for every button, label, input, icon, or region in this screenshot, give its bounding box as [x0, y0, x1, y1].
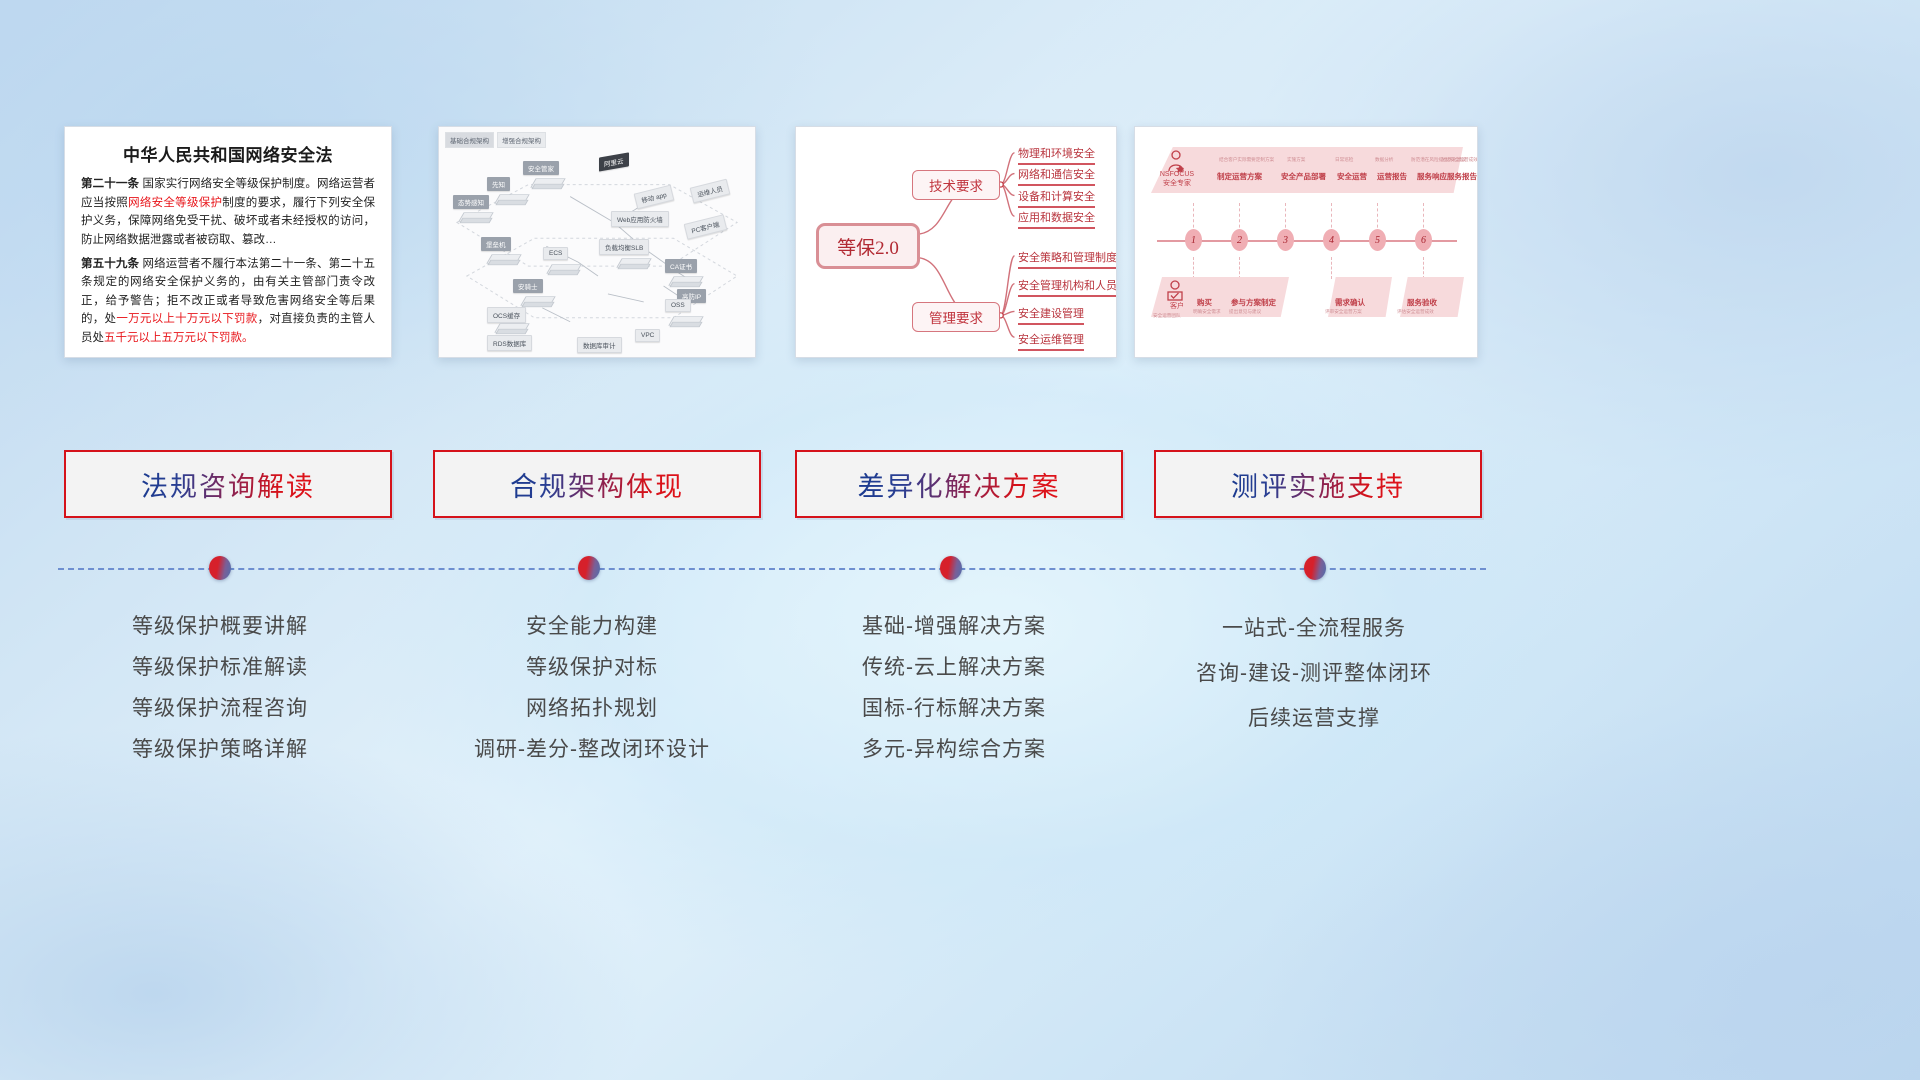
- customer-step-4-title: 服务验收: [1407, 297, 1437, 308]
- node-label-xianzhi: 先知: [487, 177, 510, 191]
- card-mindmap-dengbao: 等保2.0 技术要求 管理要求 物理和环境安全 网络和通信安全 设备和计算安全 …: [795, 126, 1117, 358]
- timeline-dashed-line: [58, 568, 1486, 570]
- timeline-step-4[interactable]: 4: [1323, 229, 1340, 251]
- customer-step-2-sub: 提出意见与建议: [1229, 309, 1261, 315]
- connector-c1: [1193, 257, 1194, 279]
- law-article-21: 第二十一条 国家实行网络安全等级保护制度。网络运营者应当按照网络安全等级保护制度…: [81, 175, 375, 250]
- timeline-step-5[interactable]: 5: [1369, 229, 1386, 251]
- mindmap-leaf-org-personnel: 安全管理机构和人员: [1018, 277, 1117, 297]
- step-4-sub: 数据分析: [1375, 157, 1393, 163]
- brand-role: 安全专家: [1155, 180, 1199, 189]
- step-2-title: 安全产品部署: [1281, 171, 1326, 182]
- list-item: 等级保护策略详解: [40, 729, 400, 770]
- list-item: 等级保护对标: [412, 647, 772, 688]
- list-item: 等级保护概要讲解: [40, 606, 400, 647]
- list-item: 一站式-全流程服务: [1134, 606, 1494, 651]
- service-timeline-graphic: NSFOCUS 安全专家 结合客户实际需要定制方案 制定运营方案 实施方案 安全…: [1135, 127, 1477, 357]
- node-box-oss: [671, 313, 701, 329]
- customer-step-4-sub: 评估安全运营成效: [1397, 309, 1434, 315]
- list-item: 安全能力构建: [412, 606, 772, 647]
- node-label-ecs: ECS: [543, 247, 568, 260]
- node-box-ocs-cache: [497, 320, 527, 336]
- law-highlight-text: 网络安全等级保护: [128, 197, 222, 209]
- node-label-security-steward: 安全管家: [523, 161, 559, 175]
- mindmap-leaf-construction-mgmt: 安全建设管理: [1018, 305, 1084, 325]
- customer-step-3-sub: 评审安全运营方案: [1325, 309, 1362, 315]
- node-box-security-steward: [533, 175, 563, 191]
- article-59-body: 网络运营者不履行本法第二十一条、第二十五条规定的网络安全保护义务的，由有关主管部…: [81, 258, 375, 345]
- list-item: 多元-异构综合方案: [774, 729, 1134, 770]
- mindmap-leaf-ops-mgmt: 安全运维管理: [1018, 331, 1084, 351]
- node-label-vpc: VPC: [635, 329, 660, 342]
- timeline-marker-4[interactable]: [1304, 556, 1326, 580]
- node-label-anqishi: 安骑士: [513, 279, 543, 293]
- section-title-box-4[interactable]: 测评实施支持: [1154, 450, 1482, 518]
- customer-sublabel: 安全运营团队: [1153, 313, 1181, 319]
- node-box-xianzhi: [497, 191, 527, 207]
- node-box-anqishi: [523, 293, 553, 309]
- step-3-title: 安全运营: [1337, 171, 1367, 182]
- mindmap-leaf-network-comm: 网络和通信安全: [1018, 166, 1095, 186]
- node-box-ca-certificate: [671, 273, 701, 289]
- step-2-sub: 实施方案: [1287, 157, 1305, 163]
- customer-step-3-title: 需求确认: [1335, 297, 1365, 308]
- node-box-ecs: [549, 261, 579, 277]
- mindmap-leaf-physical-env: 物理和环境安全: [1018, 145, 1095, 165]
- node-label-oss: OSS: [665, 299, 691, 312]
- customer-step-1-title: 购买: [1197, 297, 1212, 308]
- section-title-3: 差异化解决方案: [858, 465, 1061, 504]
- bullet-column-1: 等级保护概要讲解 等级保护标准解读 等级保护流程咨询 等级保护策略详解: [40, 606, 400, 770]
- mindmap-leaf-app-data: 应用和数据安全: [1018, 209, 1095, 229]
- customer-step-2-title: 参与方案制定: [1231, 297, 1276, 308]
- timeline-marker-1[interactable]: [209, 556, 231, 580]
- brand-name: NSFOCUS: [1155, 171, 1199, 180]
- tab-basic-architecture[interactable]: 基础合规架构: [445, 132, 494, 148]
- poster-canvas: 中华人民共和国网络安全法 第二十一条 国家实行网络安全等级保护制度。网络运营者应…: [0, 0, 1920, 1080]
- node-label-slb: 负载均衡SLB: [599, 239, 649, 255]
- mindmap-core-node: 等保2.0: [816, 223, 920, 269]
- node-box-situational-awareness: [461, 209, 491, 225]
- timeline-marker-3[interactable]: [940, 556, 962, 580]
- section-title-box-2[interactable]: 合规架构体现: [433, 450, 761, 518]
- section-title-box-1[interactable]: 法规咨询解读: [64, 450, 392, 518]
- mindmap: 等保2.0 技术要求 管理要求 物理和环境安全 网络和通信安全 设备和计算安全 …: [796, 127, 1116, 357]
- node-box-slb: [619, 255, 649, 271]
- mindmap-branch-technical: 技术要求: [912, 170, 1000, 200]
- node-label-database-audit: 数据库审计: [577, 337, 622, 353]
- step-6-sub: 总结安全运营成效提出后续建议: [1441, 157, 1478, 163]
- law-title: 中华人民共和国网络安全法: [81, 141, 375, 166]
- step-6-title: 服务报告: [1447, 171, 1477, 182]
- card-service-timeline: NSFOCUS 安全专家 结合客户实际需要定制方案 制定运营方案 实施方案 安全…: [1134, 126, 1478, 358]
- node-label-ca-certificate: CA证书: [665, 259, 697, 273]
- timeline-step-1[interactable]: 1: [1185, 229, 1202, 251]
- timeline-axis: [1157, 240, 1457, 242]
- section-title-4: 测评实施支持: [1231, 465, 1405, 504]
- bullet-column-2: 安全能力构建 等级保护对标 网络拓扑规划 调研-差分-整改闭环设计: [412, 606, 772, 770]
- connector-c4: [1423, 257, 1424, 279]
- mindmap-branch-management: 管理要求: [912, 302, 1000, 332]
- card-cybersecurity-law: 中华人民共和国网络安全法 第二十一条 国家实行网络安全等级保护制度。网络运营者应…: [64, 126, 392, 358]
- tab-enhanced-architecture[interactable]: 增强合规架构: [497, 132, 546, 148]
- node-box-bastion-host: [489, 251, 519, 267]
- customer-label: 客户: [1157, 303, 1197, 312]
- section-title-2: 合规架构体现: [510, 465, 684, 504]
- architecture-diagram: 基础合规架构 增强合规架构: [439, 127, 755, 357]
- list-item: 调研-差分-整改闭环设计: [412, 729, 772, 770]
- law-highlight-text: 五千元以上五万元以下罚款。: [104, 332, 254, 344]
- step-3-sub: 日常巡检: [1335, 157, 1353, 163]
- list-item: 网络拓扑规划: [412, 688, 772, 729]
- bullet-column-3: 基础-增强解决方案 传统-云上解决方案 国标-行标解决方案 多元-异构综合方案: [774, 606, 1134, 770]
- list-item: 咨询-建设-测评整体闭环: [1134, 651, 1494, 696]
- customer-icon: [1165, 279, 1185, 301]
- article-21-label: 第二十一条: [81, 178, 139, 190]
- step-4-title: 运营报告: [1377, 171, 1407, 182]
- law-highlight-text: 一万元以上十万元以下罚款: [116, 313, 257, 325]
- list-item: 等级保护流程咨询: [40, 688, 400, 729]
- node-label-rds-database: RDS数据库: [487, 335, 532, 351]
- node-label-bastion-host: 堡垒机: [481, 237, 511, 251]
- mindmap-leaf-device-compute: 设备和计算安全: [1018, 188, 1095, 208]
- node-label-situational-awareness: 态势感知: [453, 195, 489, 209]
- list-item: 后续运营支撑: [1134, 696, 1494, 741]
- timeline-step-2[interactable]: 2: [1231, 229, 1248, 251]
- list-item: 基础-增强解决方案: [774, 606, 1134, 647]
- list-item: 国标-行标解决方案: [774, 688, 1134, 729]
- mindmap-leaf-policy-system: 安全策略和管理制度: [1018, 249, 1117, 269]
- card-compliance-architecture: 基础合规架构 增强合规架构: [438, 126, 756, 358]
- step-1-sub: 结合客户实际需要定制方案: [1219, 157, 1274, 163]
- timeline-step-3[interactable]: 3: [1277, 229, 1294, 251]
- section-title-1: 法规咨询解读: [141, 465, 315, 504]
- section-title-box-3[interactable]: 差异化解决方案: [795, 450, 1123, 518]
- list-item: 等级保护标准解读: [40, 647, 400, 688]
- security-expert-icon: [1165, 149, 1187, 173]
- connector-c3: [1331, 257, 1332, 279]
- architecture-tabs: 基础合规架构 增强合规架构: [445, 132, 546, 148]
- timeline-marker-2[interactable]: [578, 556, 600, 580]
- connector-c2: [1239, 257, 1240, 279]
- timeline-step-6[interactable]: 6: [1415, 229, 1432, 251]
- law-article-59: 第五十九条 网络运营者不履行本法第二十一条、第二十五条规定的网络安全保护义务的，…: [81, 255, 375, 348]
- step-1-title: 制定运营方案: [1217, 171, 1262, 182]
- list-item: 传统-云上解决方案: [774, 647, 1134, 688]
- node-label-waf: Web应用防火墙: [611, 211, 669, 227]
- bullet-column-4: 一站式-全流程服务 咨询-建设-测评整体闭环 后续运营支撑: [1134, 606, 1494, 741]
- step-5-title: 服务响应: [1417, 171, 1447, 182]
- article-59-label: 第五十九条: [81, 258, 139, 270]
- customer-step-1-sub: 明确安全需求: [1193, 309, 1221, 315]
